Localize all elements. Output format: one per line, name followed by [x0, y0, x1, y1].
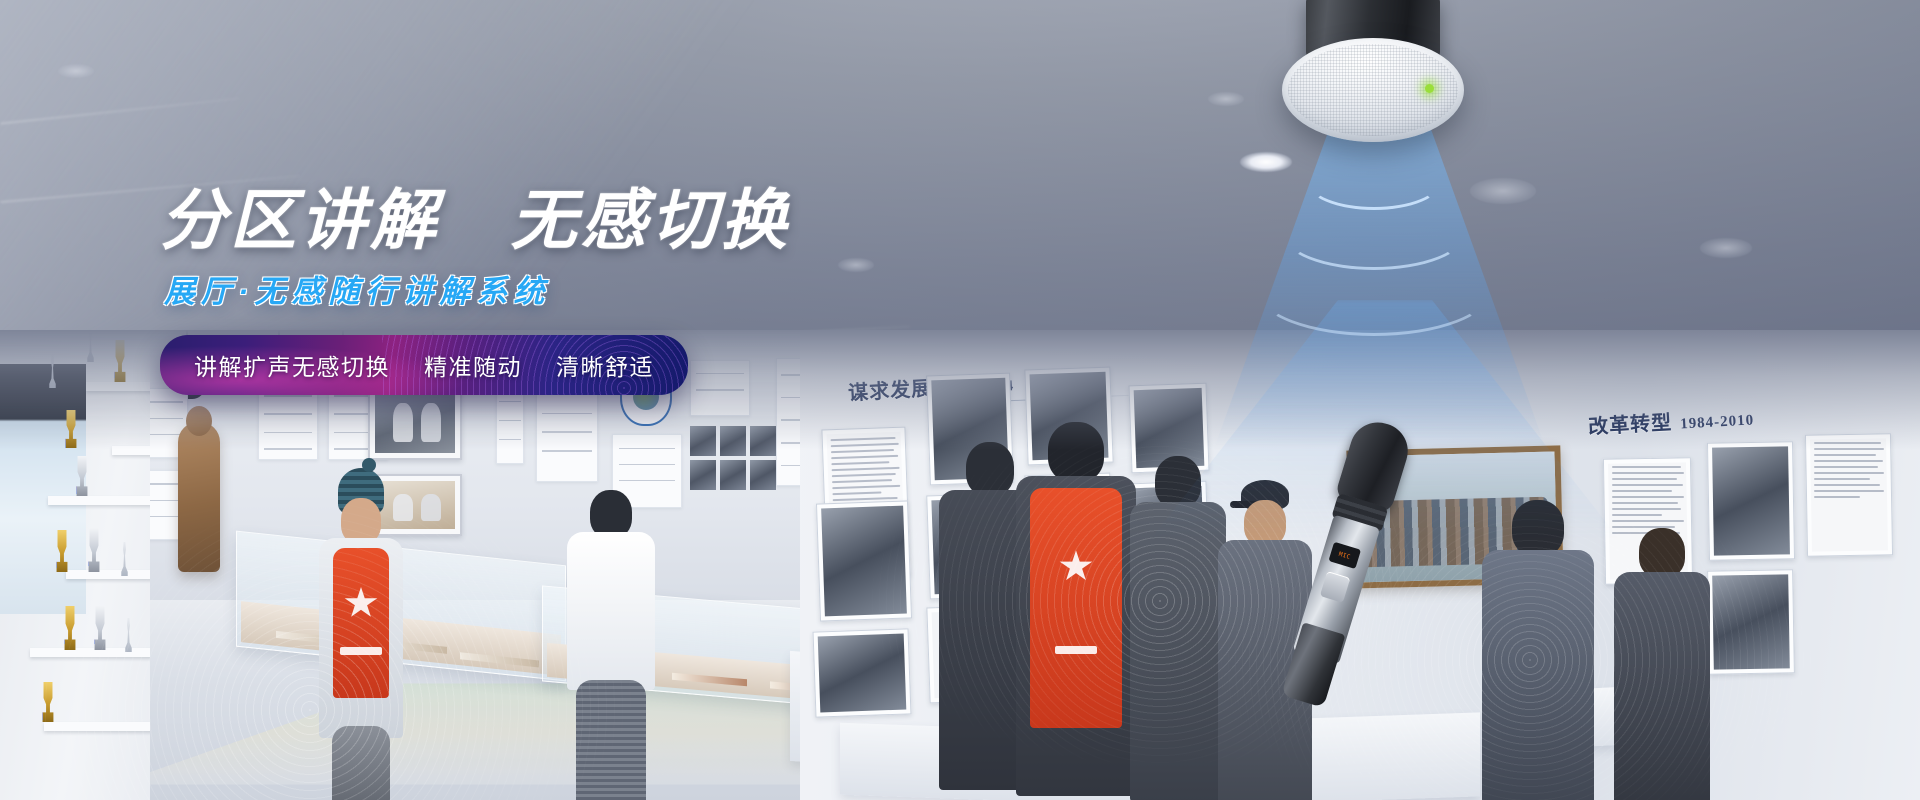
wall-panel: [150, 388, 188, 458]
ceiling-spotlight-icon: [58, 64, 94, 78]
text-column: [1814, 442, 1884, 502]
figurine: [86, 330, 95, 362]
wall-heading-rule: [968, 394, 1150, 403]
subheadline: 展厅·无感随行讲解系统: [164, 266, 880, 311]
headline: 分区讲解 无感切换: [160, 186, 880, 256]
feature-item-2: 精准随动: [424, 348, 522, 382]
historic-photo-grid: [690, 426, 776, 490]
decorative-wave-sweep: [0, 343, 808, 800]
ceiling-spotlight-icon: [1208, 92, 1244, 106]
sound-wave-ring: [1256, 244, 1492, 336]
wall-heading-2: 改革转型 1984-2010: [1587, 401, 1754, 439]
mic-grip: [1281, 622, 1345, 708]
ceiling-spotlight-icon: [1470, 178, 1536, 204]
feature-item-1: 讲解扩声无感切换: [194, 348, 390, 382]
trophy: [63, 410, 79, 448]
wall-heading-2-title: 改革转型: [1587, 406, 1672, 440]
headline-part-2: 无感切换: [511, 183, 791, 257]
wall-heading-1-years: 1952-1984: [940, 378, 1015, 399]
museum-interior-photo: 谋求发展 1952-1984 改革转型 1984-2010: [0, 330, 1920, 800]
speaker-status-led-icon: [1425, 84, 1434, 93]
ceiling-speaker[interactable]: [1282, 0, 1464, 146]
figurine: [48, 354, 57, 388]
feature-item-3: 清晰舒适: [556, 348, 654, 382]
ceiling-spotlight-icon: [1240, 152, 1292, 172]
banner-copy: 分区讲解 无感切换 展厅·无感随行讲解系统 讲解扩声无感切换 精准随动 清晰舒适: [160, 186, 880, 395]
wall-heading-2-years: 1984-2010: [1680, 412, 1755, 433]
trophy: [112, 340, 128, 382]
feature-pill: 讲解扩声无感切换 精准随动 清晰舒适: [160, 335, 688, 395]
ceiling-spotlight-icon: [1700, 238, 1752, 258]
headline-part-1: 分区讲解: [160, 183, 440, 257]
mic-display-text: MIC: [1338, 550, 1352, 560]
speaker-grille: [1282, 38, 1464, 142]
promo-banner: 谋求发展 1952-1984 改革转型 1984-2010: [0, 0, 1920, 800]
